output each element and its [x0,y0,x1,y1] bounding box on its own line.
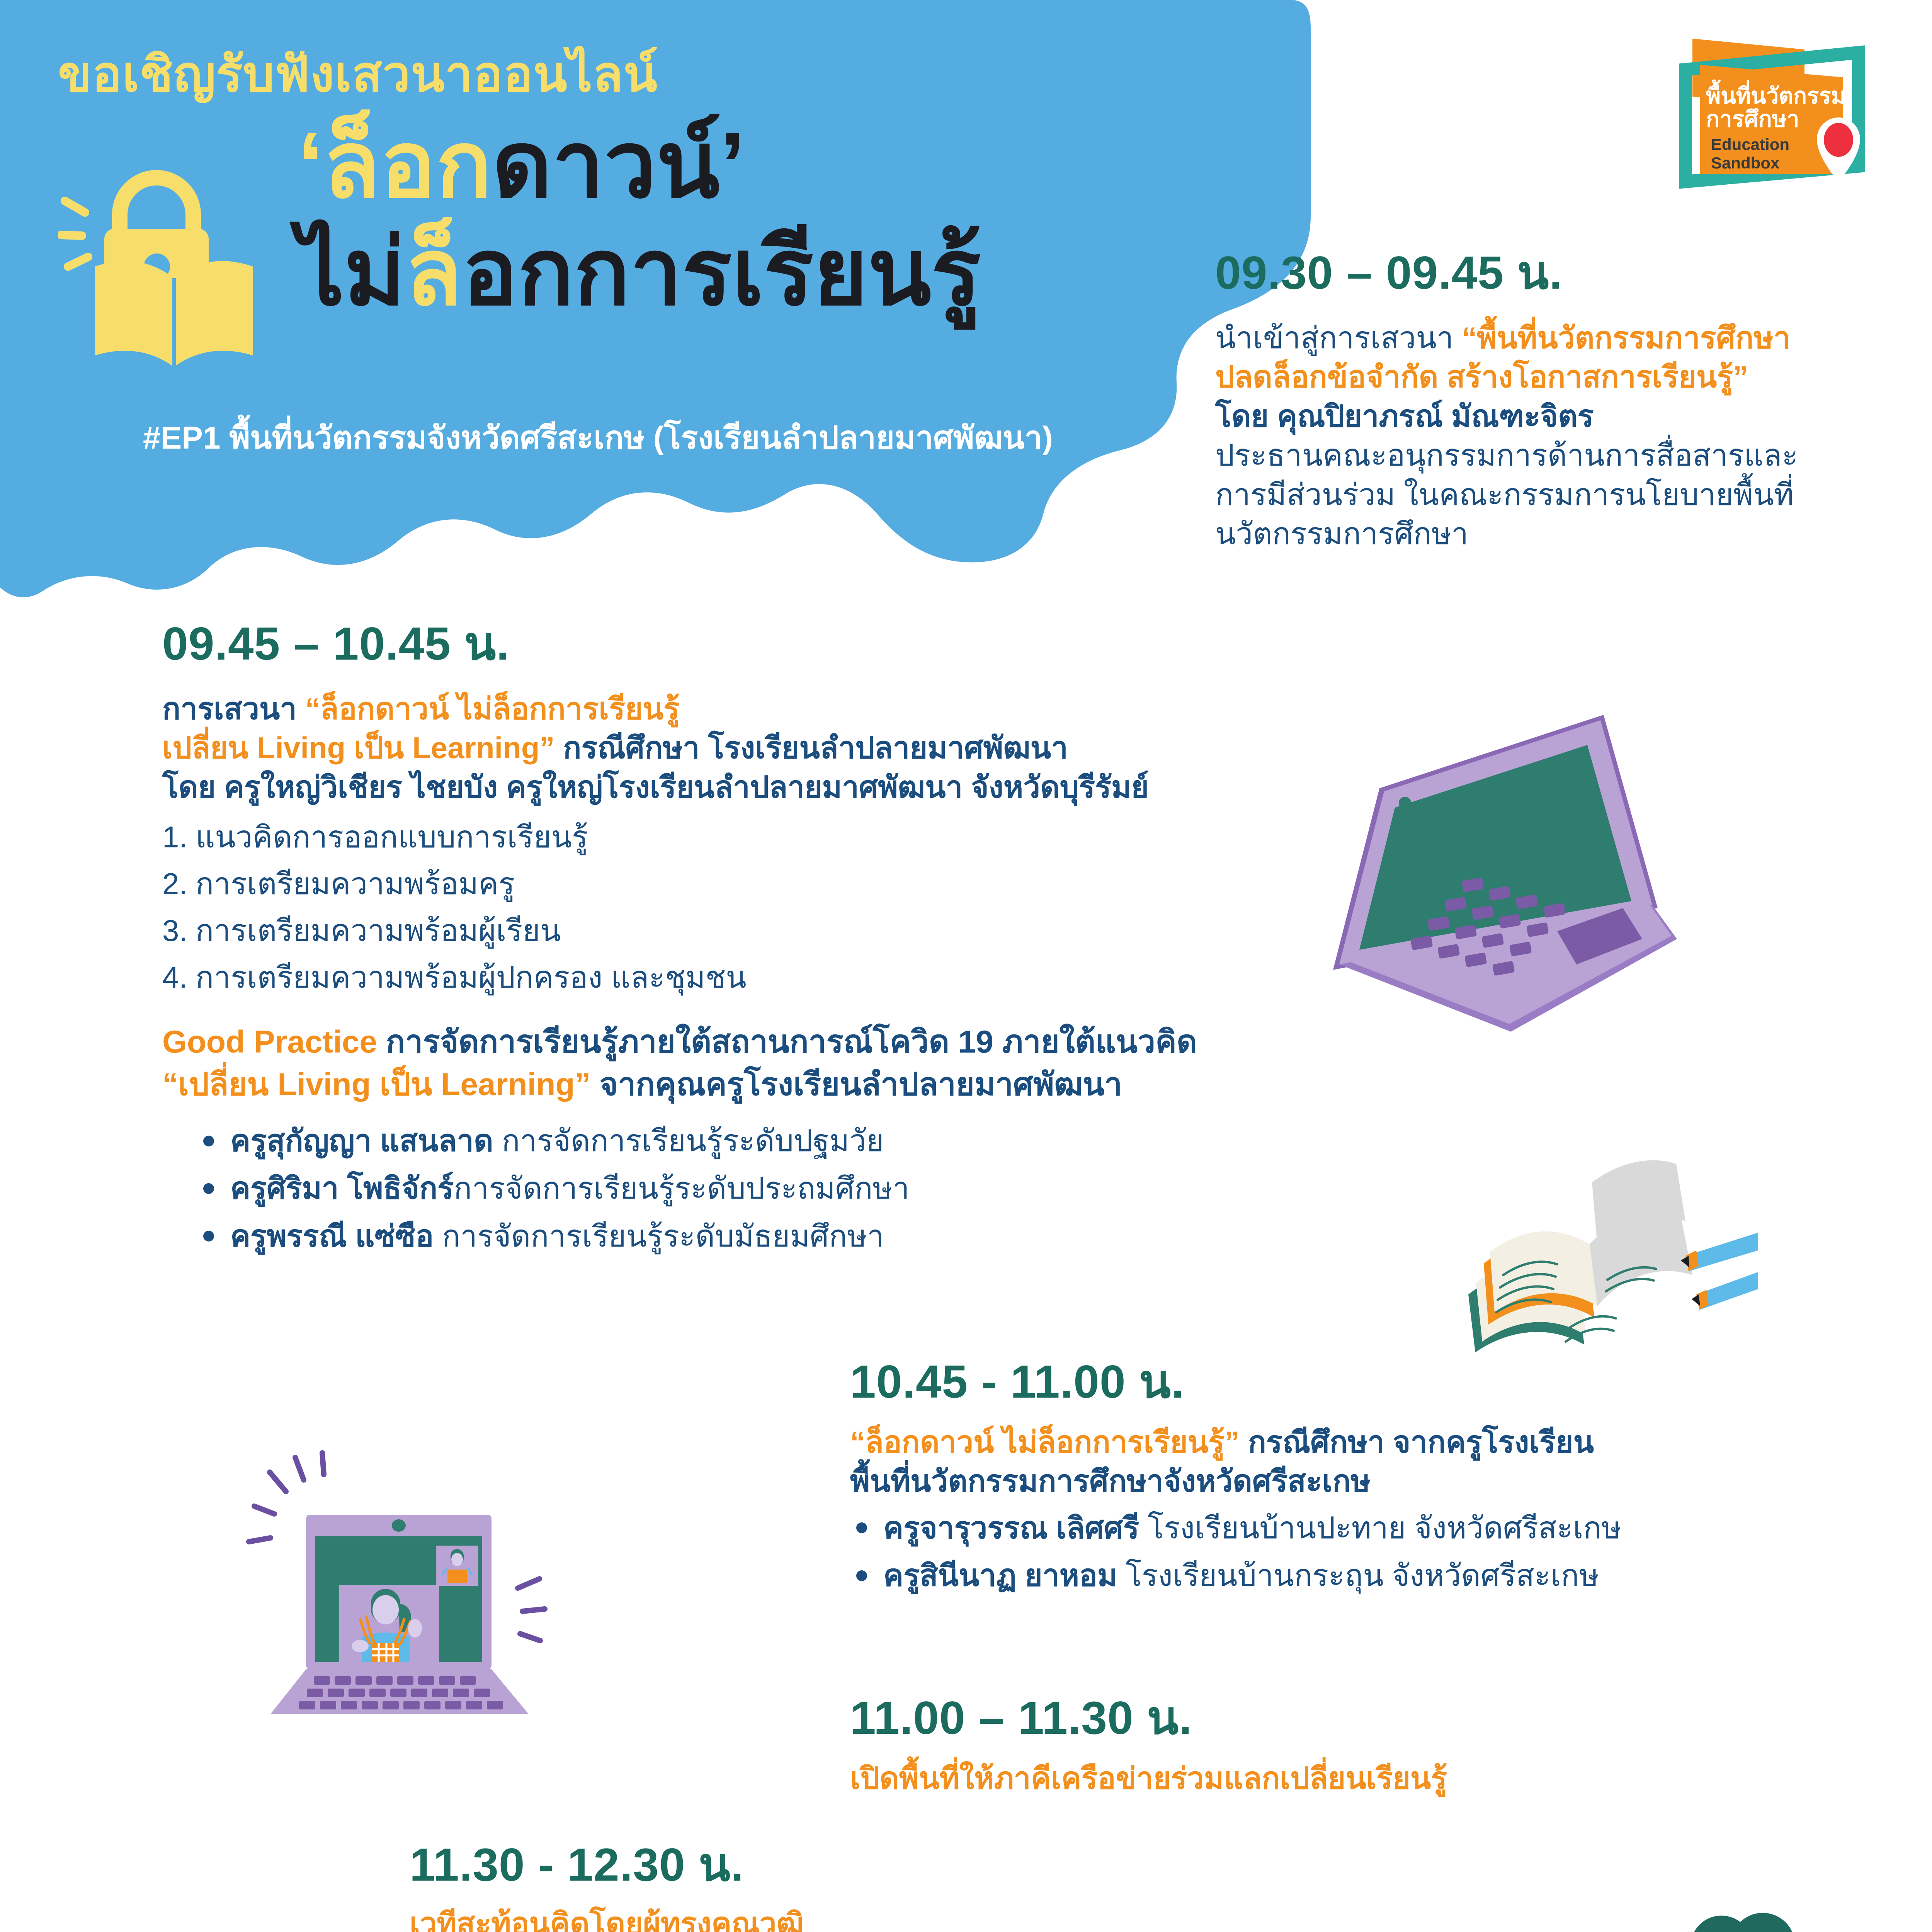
open-book-pencils-icon [1426,1113,1758,1368]
intro-prefix: นำเข้าสู่การเสวนา [1215,321,1462,355]
talk-prefix: การเสวนา [162,692,305,726]
hero-l2-a: ไม่ [298,220,405,324]
talk-case: กรณีศึกษา โรงเรียนลำปลายมาศพัฒนา [555,731,1068,765]
speaker-name: คุณปิยาภรณ์ มัณฑะจิตร [1277,399,1594,433]
list-item: ครูจารุวรรณ เลิศศรี โรงเรียนบ้านปะทาย จั… [850,1504,1816,1552]
list-item: 1.แนวคิดการออกแบบการเรียนรู้ [162,814,1314,861]
list-item: ครูพรรณี แซ่ซือ การจัดการเรียนรู้ระดับมั… [197,1213,1314,1260]
tree-large [1662,1913,1821,1932]
education-sandbox-logo: พื้นที่นวัตกรรม การศึกษา Education Sandb… [1642,19,1897,201]
talk-quote-2: เปลี่ยน Living เป็น Learning” [162,731,555,765]
session-time: 09.30 – 09.45 น. [1215,247,1903,298]
gp-teacher-list: ครูสุกัญญา แสนลาด การจัดการเรียนรู้ระดับ… [162,1117,1314,1260]
speaker-role-2: การมีส่วนร่วม ในคณะกรรมการนโยบายพื้นที่ [1215,475,1903,514]
logo-en-line2: Sandbox [1711,154,1780,172]
session-time: 09.45 – 10.45 น. [162,618,1314,669]
by-prefix: โดย [1215,399,1277,433]
gp-from: จากคุณครูโรงเรียนลำปลายมาศพัฒนา [591,1067,1122,1102]
hero-l1-b: อก [380,113,492,216]
video-call-laptop-icon [224,1422,556,1716]
gp-text: การจัดการเรียนรู้ภายใต้สถานการณ์โควิด 19… [386,1024,1197,1060]
case-area: พื้นที่นวัตกรรมการศึกษาจังหวัดศรีสะเกษ [850,1462,1816,1501]
panel-headline: เวทีสะท้อนคิดโดยผู้ทรงคุณวุฒิ [410,1906,804,1932]
intro-quote-1: “พื้นที่นวัตกรรมการศึกษา [1462,321,1790,355]
good-practice-block: Good Practice การจัดการเรียนรู้ภายใต้สถา… [162,1021,1314,1260]
gp-quote: “เปลี่ยน Living เป็น Learning” [162,1067,591,1102]
hero-subtitle: #EP1 พื้นที่นวัตกรรมจังหวัดศรีสะเกษ (โรง… [143,413,1053,463]
laptop-icon [1264,692,1681,1039]
talk-quote-1: “ล็อกดาวน์ ไม่ล็อกการเรียนรู้ [305,692,680,726]
logo-en-line1: Education [1711,135,1789,153]
hero-l2-c: อกการเรียนรู้ [462,220,981,324]
talk-speaker: โดย ครูใหญ่วิเชียร ไชยบัง ครูใหญ่โรงเรีย… [162,768,1314,807]
talk-topic-list: 1.แนวคิดการออกแบบการเรียนรู้ 2.การเตรียม… [162,814,1314,1001]
session-1045: 10.45 - 11.00 น. “ล็อกดาวน์ ไม่ล็อกการเร… [850,1356,1816,1599]
case-speaker-list: ครูจารุวรรณ เลิศศรี โรงเรียนบ้านปะทาย จั… [850,1504,1816,1599]
session-1100: 11.00 – 11.30 น. เปิดพื้นที่ให้ภาคีเครือ… [850,1692,1816,1798]
session-0930: 09.30 – 09.45 น. นำเข้าสู่การเสวนา “พื้น… [1215,247,1903,553]
session-time: 10.45 - 11.00 น. [850,1356,1816,1407]
list-item: ครูสินีนาฏ ยาหอม โรงเรียนบ้านกระถุน จังห… [850,1552,1816,1599]
session-1130: 11.30 - 12.30 น. เวทีสะท้อนคิดโดยผู้ทรงค… [410,1839,1376,1932]
lock-book-icon [58,139,298,379]
list-item: 4.การเตรียมความพร้อมผู้ปกครอง และชุมชน [162,954,1314,1001]
list-item: ครูศิริมา โพธิจักร์การจัดการเรียนรู้ระดั… [197,1165,1314,1212]
logo-thai-line2: การศึกษา [1706,107,1799,132]
case-quote: “ล็อกดาวน์ ไม่ล็อกการเรียนรู้” [850,1425,1240,1459]
case-rest: กรณีศึกษา จากครูโรงเรียน [1240,1425,1594,1459]
invite-headline: ขอเชิญรับฟังเสวนาออนไลน์ [58,35,658,113]
intro-quote-2: ปลดล็อกข้อจำกัด สร้างโอกาสการเรียนรู้” [1215,360,1748,394]
session-0945: 09.45 – 10.45 น. การเสวนา “ล็อกดาวน์ ไม่… [162,618,1314,1260]
open-forum-headline: เปิดพื้นที่ให้ภาคีเครือข่ายร่วมแลกเปลี่ย… [850,1761,1447,1795]
list-item: 3.การเตรียมความพร้อมผู้เรียน [162,907,1314,954]
video-tile-large [339,1585,439,1662]
list-item: 2.การเตรียมความพร้อมครู [162,861,1314,907]
gp-label: Good Practice [162,1024,386,1060]
video-tile-small [436,1546,478,1586]
session-time: 11.30 - 12.30 น. [410,1839,1376,1890]
hero-l1-a: ‘ล็ [298,113,380,216]
list-item: ครูสุกัญญา แสนลาด การจัดการเรียนรู้ระดับ… [197,1117,1314,1165]
session-time: 11.00 – 11.30 น. [850,1692,1816,1743]
hero-l2-b: ล็ [405,220,462,324]
hero-l1-c: ดาวน์’ [492,113,745,216]
logo-thai-line1: พื้นที่นวัตกรรม [1706,80,1846,109]
speaker-role-3: นวัตกรรมการศึกษา [1215,514,1903,553]
speaker-role-1: ประธานคณะอนุกรรมการด้านการสื่อสารและ [1215,436,1903,475]
